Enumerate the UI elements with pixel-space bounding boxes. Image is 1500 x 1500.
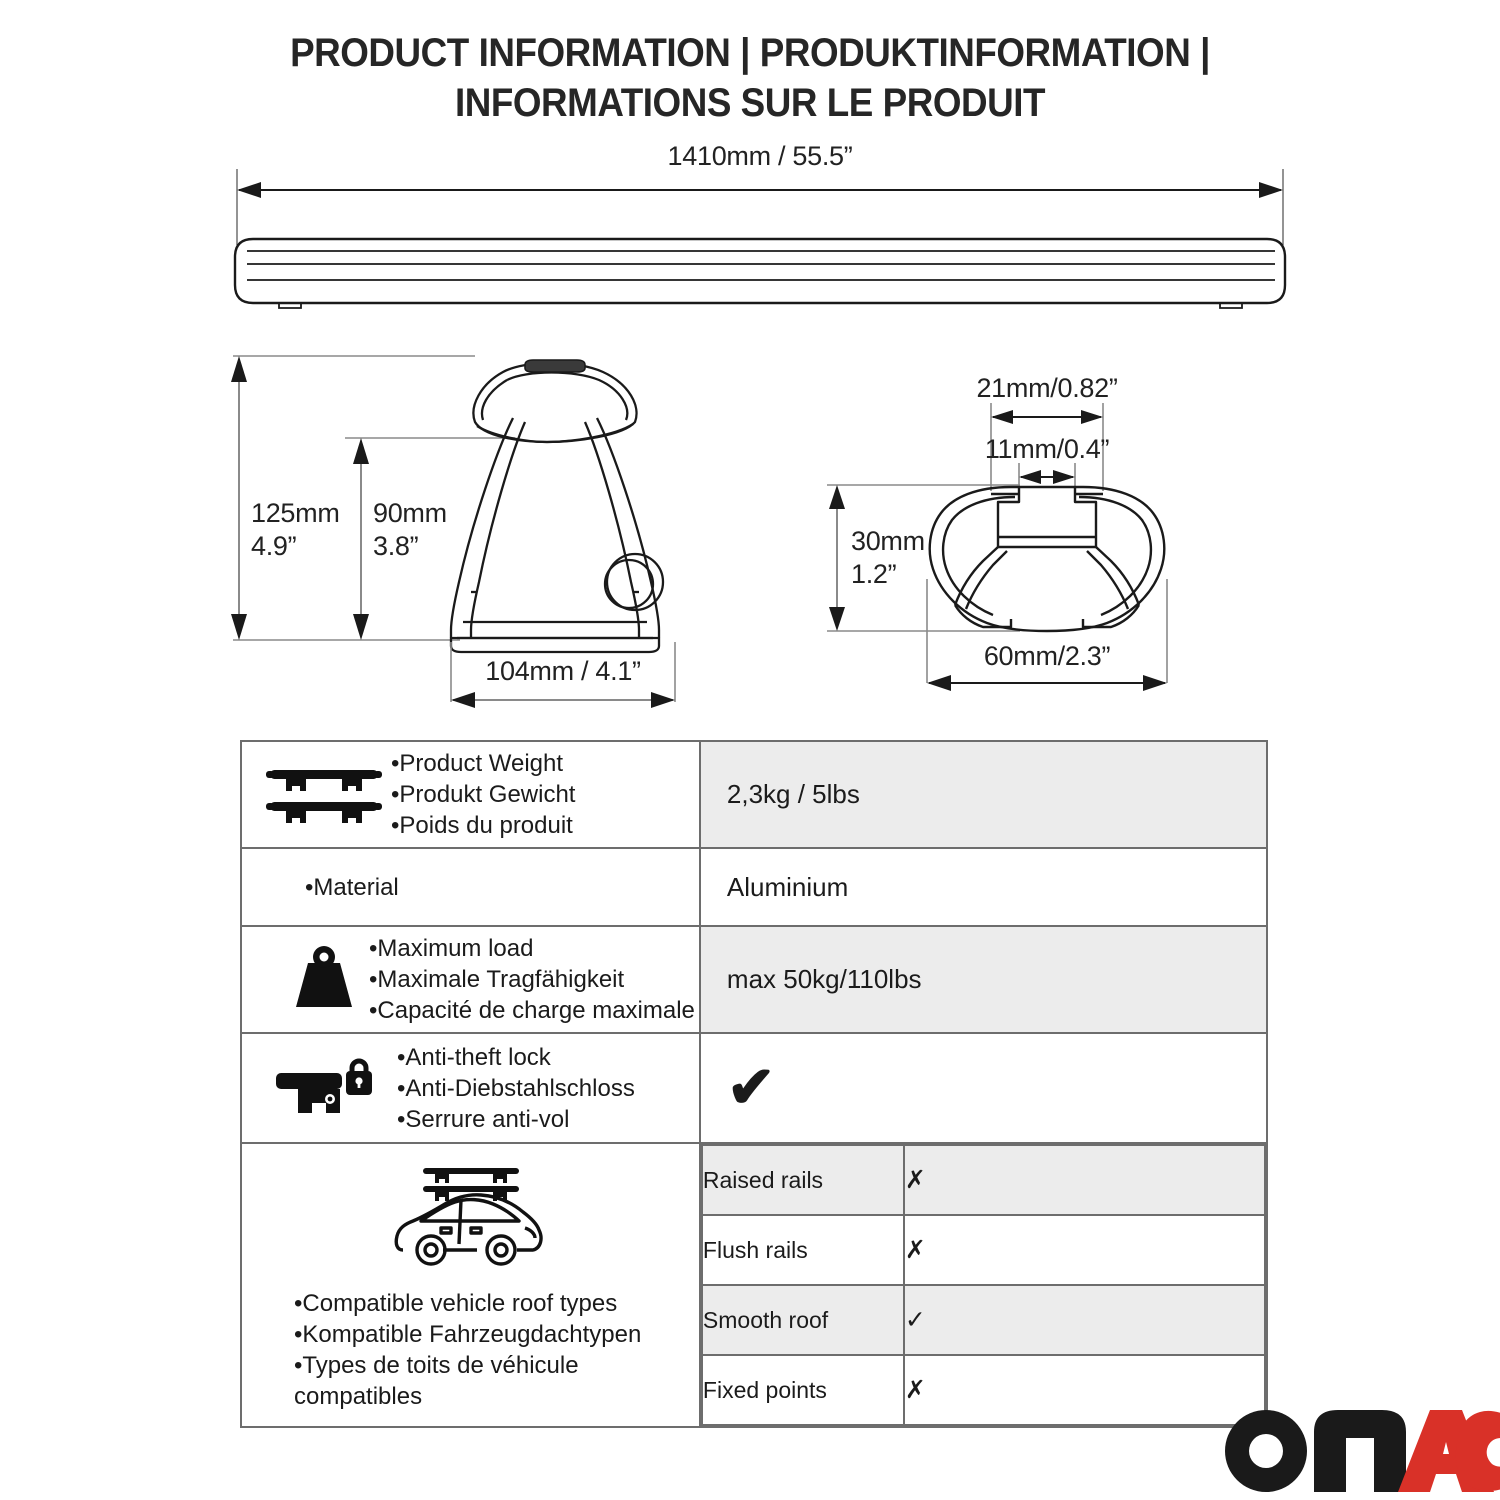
table-row: •Anti-theft lock •Anti-Diebstahlschloss … bbox=[241, 1033, 1267, 1143]
material-value: Aluminium bbox=[701, 872, 1266, 903]
roof-type-name: Smooth roof bbox=[702, 1285, 904, 1355]
title-line-2: INFORMATIONS SUR LE PRODUIT bbox=[60, 78, 1440, 128]
anti-theft-labels: •Anti-theft lock •Anti-Diebstahlschloss … bbox=[397, 1042, 695, 1135]
anti-theft-check-mark: ✔ bbox=[701, 1059, 1266, 1117]
roof-type-row: Flush rails ✗ bbox=[702, 1215, 1265, 1285]
label-de: •Produkt Gewicht bbox=[391, 779, 695, 810]
foot-total-height-in: 4.9” bbox=[251, 531, 296, 561]
label-en: •Anti-theft lock bbox=[397, 1042, 695, 1073]
material-labels: •Material bbox=[305, 872, 695, 903]
label-de: •Anti-Diebstahlschloss bbox=[397, 1073, 695, 1104]
section-height-in: 1.2” bbox=[851, 559, 896, 589]
foot-inner-height-in: 3.8” bbox=[373, 531, 418, 561]
product-weight-labels: •Product Weight •Produkt Gewicht •Poids … bbox=[391, 748, 695, 841]
roof-type-name: Flush rails bbox=[702, 1215, 904, 1285]
bar-length-label: 1410mm / 55.5” bbox=[668, 141, 853, 171]
table-row: •Product Weight •Produkt Gewicht •Poids … bbox=[241, 741, 1267, 848]
roof-type-mark: ✗ bbox=[904, 1355, 1265, 1425]
label-fr-cont: compatibles bbox=[294, 1381, 699, 1412]
max-load-labels: •Maximum load •Maximale Tragfähigkeit •C… bbox=[369, 933, 695, 1026]
roof-type-row: Fixed points ✗ bbox=[702, 1355, 1265, 1425]
roof-type-mark: ✗ bbox=[904, 1145, 1265, 1215]
foot-width-label: 104mm / 4.1” bbox=[485, 656, 640, 686]
product-weight-value: 2,3kg / 5lbs bbox=[701, 779, 1266, 810]
roof-type-mark: ✓ bbox=[904, 1285, 1265, 1355]
label-fr: •Serrure anti-vol bbox=[397, 1104, 695, 1135]
title-line-1: PRODUCT INFORMATION | PRODUKTINFORMATION… bbox=[60, 28, 1440, 78]
table-row: •Material Aluminium bbox=[241, 848, 1267, 926]
roof-type-labels: •Compatible vehicle roof types •Kompatib… bbox=[242, 1288, 699, 1412]
roof-type-name: Raised rails bbox=[702, 1145, 904, 1215]
crossbar-cross-section-drawing: 21mm/0.82” 11mm/0.4” 30mm 1.2” bbox=[815, 365, 1295, 705]
slot-outer-label: 21mm/0.82” bbox=[976, 373, 1117, 403]
label-en: •Maximum load bbox=[369, 933, 695, 964]
label-de: •Maximale Tragfähigkeit bbox=[369, 964, 695, 995]
label-fr: •Types de toits de véhicule bbox=[294, 1350, 699, 1381]
max-load-value: max 50kg/110lbs bbox=[701, 964, 1266, 995]
label-en: •Compatible vehicle roof types bbox=[294, 1288, 699, 1319]
table-row: •Maximum load •Maximale Tragfähigkeit •C… bbox=[241, 926, 1267, 1033]
roof-type-matrix: Raised rails ✗ Flush rails ✗ Smooth roof… bbox=[701, 1144, 1266, 1426]
table-row-roof-types: •Compatible vehicle roof types •Kompatib… bbox=[241, 1143, 1267, 1427]
page-title: PRODUCT INFORMATION | PRODUKTINFORMATION… bbox=[0, 28, 1500, 128]
label-en: •Product Weight bbox=[391, 748, 695, 779]
two-crossbars-icon bbox=[256, 762, 391, 828]
lock-icon bbox=[256, 1055, 391, 1121]
label-de: •Kompatible Fahrzeugdachtypen bbox=[294, 1319, 699, 1350]
section-height-mm: 30mm bbox=[851, 526, 925, 556]
label-en: •Material bbox=[305, 872, 695, 903]
roof-type-name: Fixed points bbox=[702, 1355, 904, 1425]
specification-table: •Product Weight •Produkt Gewicht •Poids … bbox=[240, 740, 1268, 1428]
section-width-label: 60mm/2.3” bbox=[984, 641, 1110, 671]
foot-inner-height-mm: 90mm bbox=[373, 498, 447, 528]
roof-type-row: Smooth roof ✓ bbox=[702, 1285, 1265, 1355]
label-fr: •Capacité de charge maximale bbox=[369, 995, 695, 1026]
roof-type-row: Raised rails ✗ bbox=[702, 1145, 1265, 1215]
slot-inner-label: 11mm/0.4” bbox=[985, 434, 1109, 464]
car-with-roofbars-icon bbox=[242, 1158, 699, 1276]
foot-total-height-mm: 125mm bbox=[251, 498, 340, 528]
roof-type-mark: ✗ bbox=[904, 1215, 1265, 1285]
crossbar-side-profile-drawing: 1410mm / 55.5” bbox=[225, 135, 1295, 320]
mounting-foot-drawing: 125mm 4.9” 90mm 3.8” bbox=[225, 350, 715, 710]
label-fr: •Poids du produit bbox=[391, 810, 695, 841]
product-information-sheet: PRODUCT INFORMATION | PRODUKTINFORMATION… bbox=[0, 0, 1500, 1500]
omac-logo bbox=[1222, 1408, 1500, 1494]
